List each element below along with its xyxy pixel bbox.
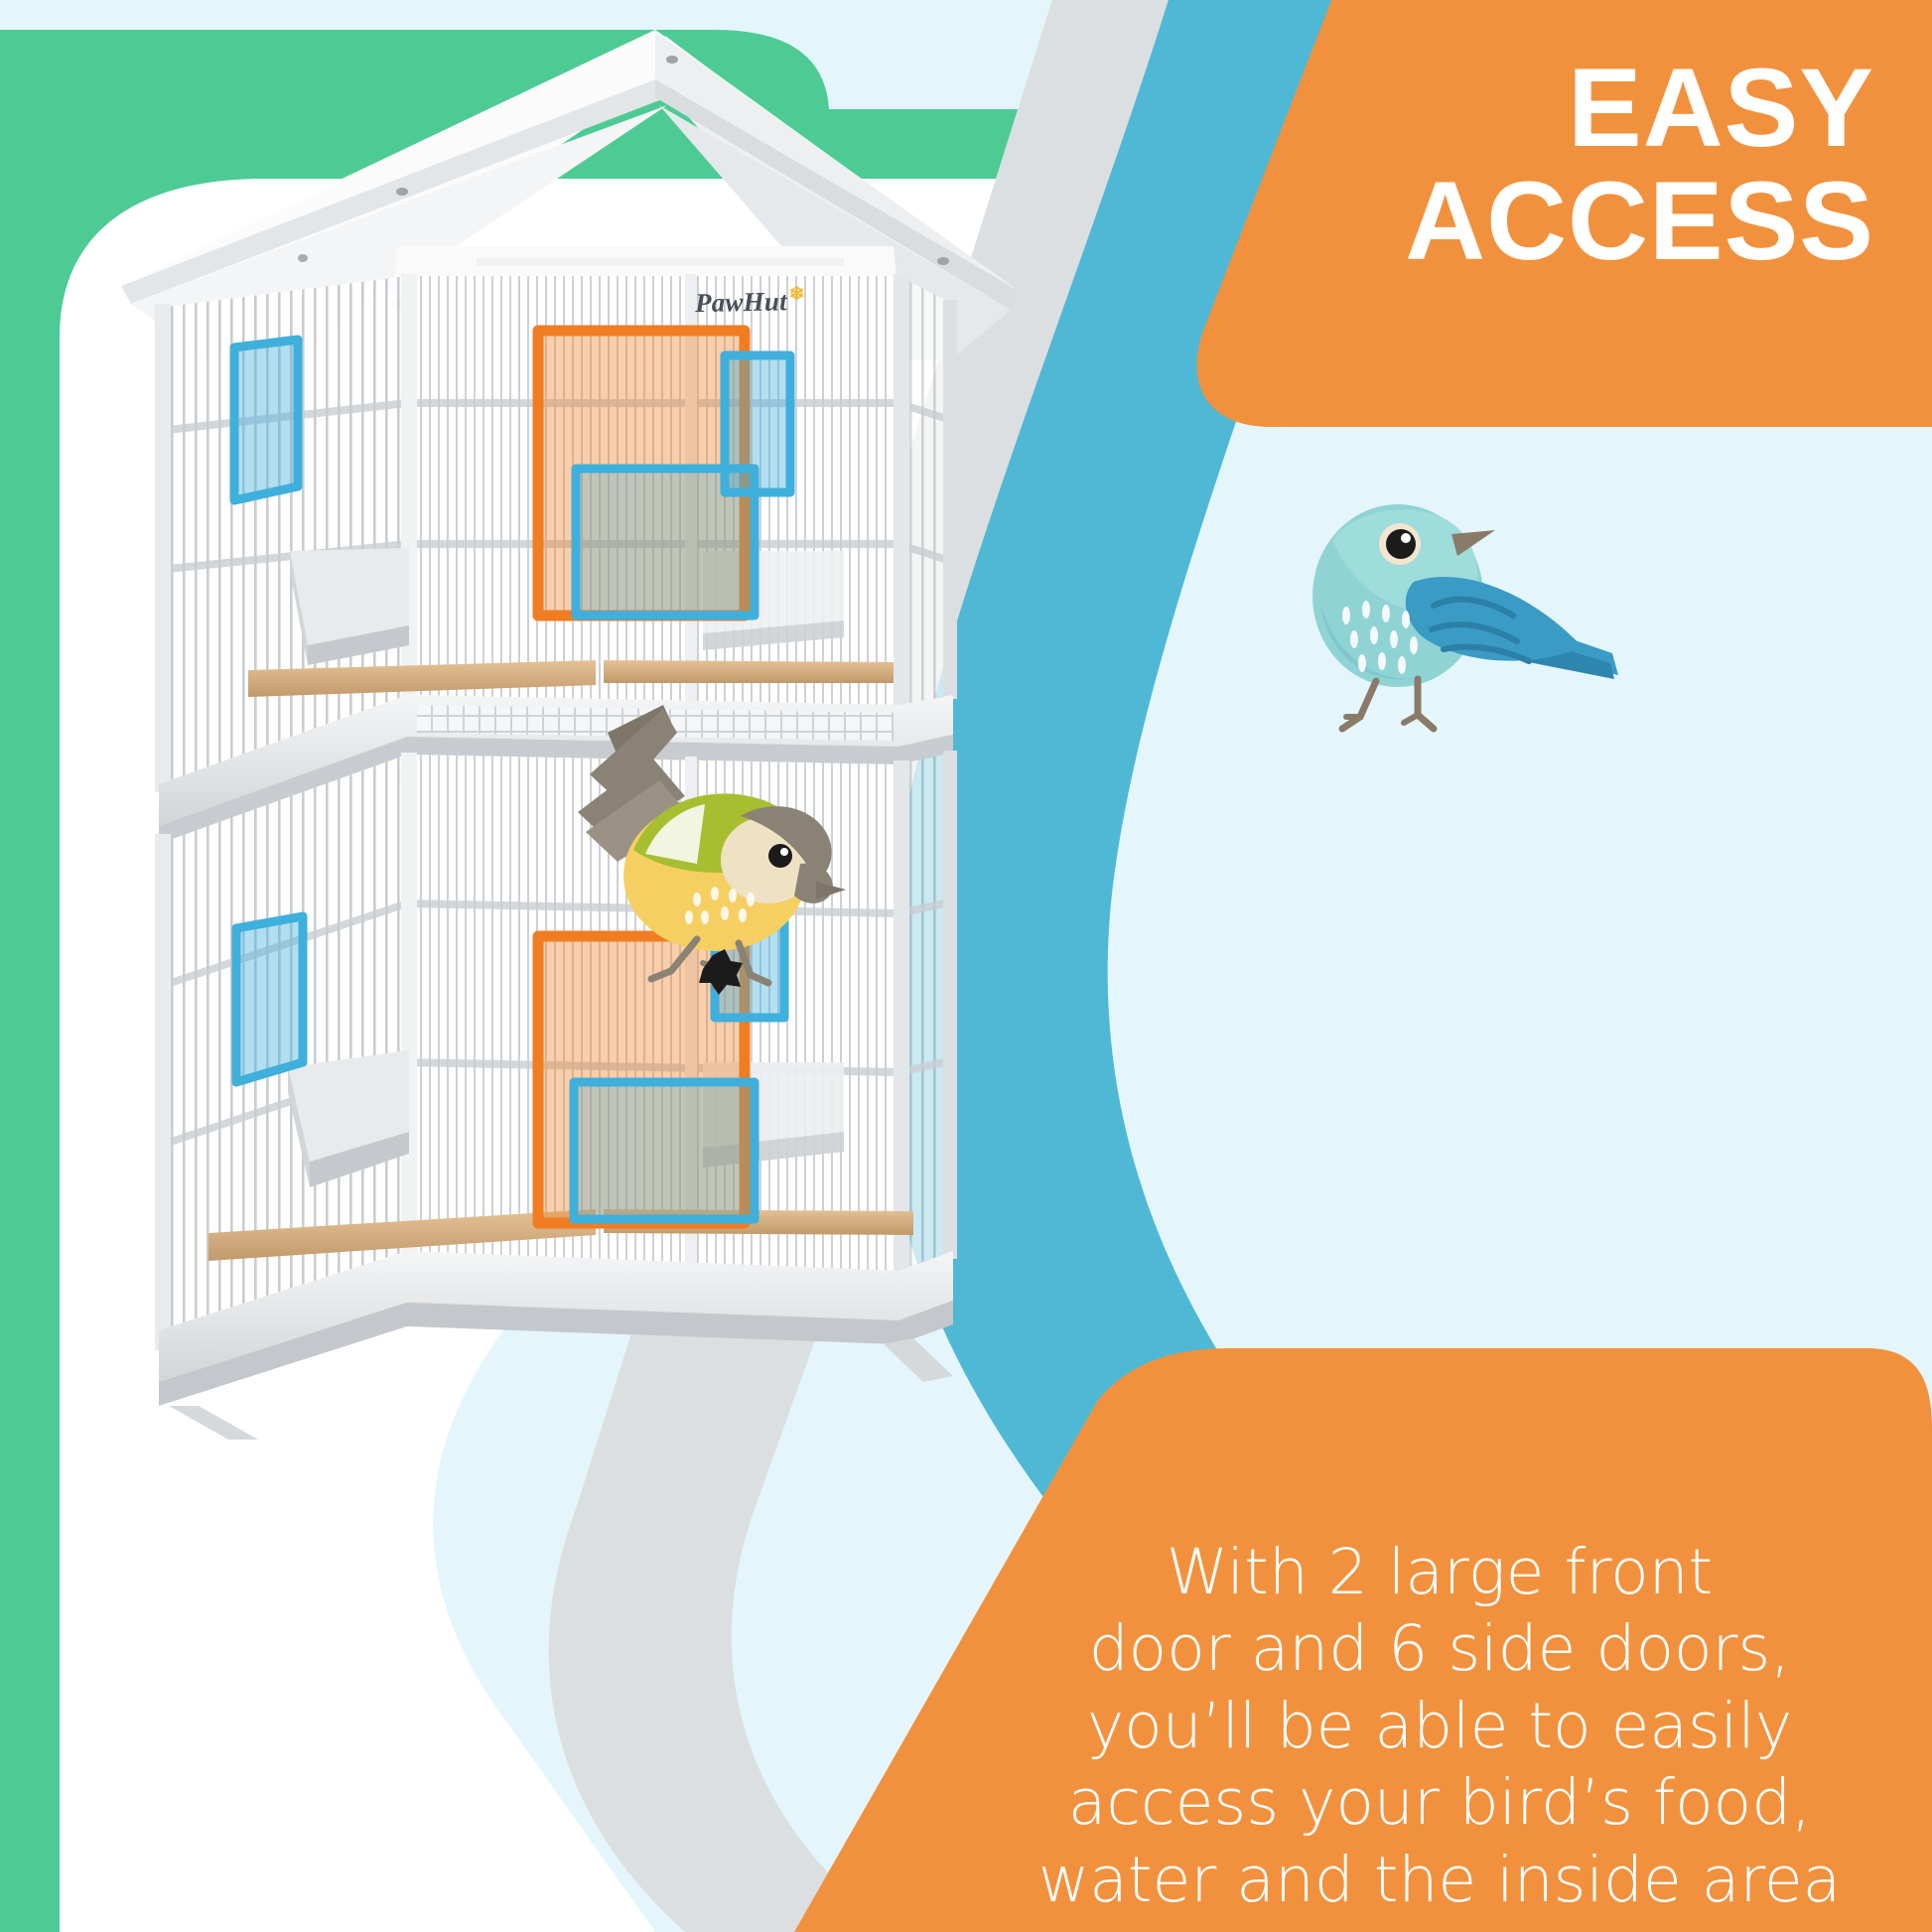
headline-line-1: EASY [1060,52,1874,165]
body-copy-line-1: With 2 large front [993,1534,1886,1610]
body-copy-line-4: access your bird’s food, [993,1764,1886,1841]
headline: EASY ACCESS [1060,52,1874,278]
headline-line-2: ACCESS [1060,165,1874,278]
paw-print-icon: ❄ [788,284,805,305]
body-copy-line-3: you’ll be able to easily [993,1688,1886,1764]
highlight-feeder-door-lower-center [574,1082,755,1219]
product-image-bird-cage [60,10,1112,1598]
marketing-banner: PawHut❄ EASY ACCESS With 2 large front d… [0,0,1932,1932]
bird-blue-decorative [1269,465,1626,762]
highlight-side-door-lower-left [236,916,303,1082]
bird-cage-illustration [60,10,1112,1598]
highlight-feeder-door-upper-center [576,469,755,616]
brand-logo: PawHut❄ [695,283,806,319]
perch-upper-right [604,660,894,683]
feeder-cup-upper-left [290,548,409,665]
body-copy-line-5: water and the inside area [993,1842,1886,1918]
body-copy: With 2 large front door and 6 side doors… [993,1534,1886,1918]
body-copy-line-2: door and 6 side doors, [993,1610,1886,1687]
brand-name: PawHut [695,286,787,318]
highlight-side-door-upper-left [234,340,298,500]
